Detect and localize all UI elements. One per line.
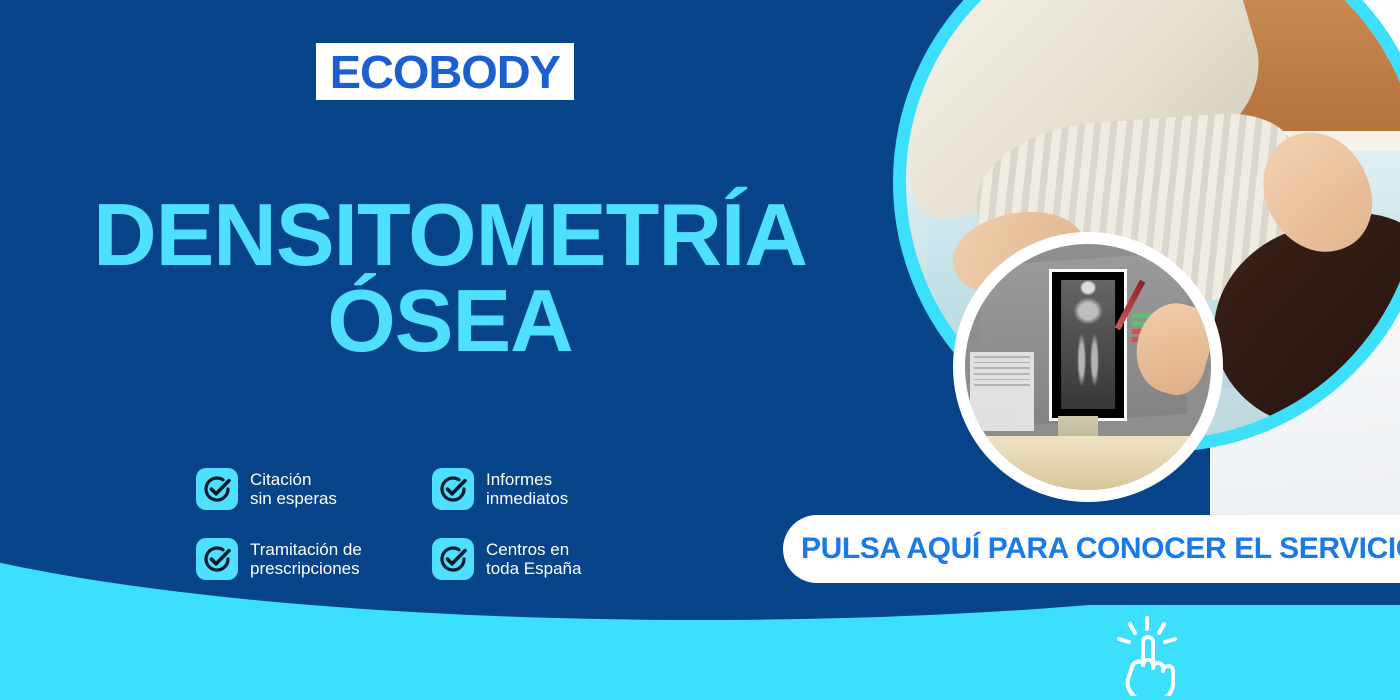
cta-button[interactable]: PULSA AQUÍ PARA CONOCER EL SERVICIO xyxy=(783,515,1400,583)
feature-item-label: Centros en toda España xyxy=(486,540,581,578)
feature-item-label: Informes inmediatos xyxy=(486,470,568,508)
feature-item-label: Tramitación de prescripciones xyxy=(250,540,362,578)
check-circle-icon xyxy=(196,468,238,510)
headline-line-2: ÓSEA xyxy=(0,278,900,364)
brand-logo-text: ECOBODY xyxy=(330,49,560,95)
headline-line-1: DENSITOMETRÍA xyxy=(0,192,900,278)
check-circle-icon xyxy=(432,538,474,580)
feature-item-1: Citación sin esperas xyxy=(196,468,432,510)
feature-item-3: Tramitación de prescripciones xyxy=(196,538,432,580)
promo-banner: Scan Information: Scan Date: Scan Type: … xyxy=(0,0,1400,700)
media-collage: Scan Information: Scan Date: Scan Type: … xyxy=(880,0,1400,600)
feature-item-2: Informes inmediatos xyxy=(432,468,632,510)
monitor-body-scan-photo xyxy=(953,232,1223,502)
feature-item-4: Centros en toda España xyxy=(432,538,632,580)
cta-button-label: PULSA AQUÍ PARA CONOCER EL SERVICIO xyxy=(801,532,1400,566)
feature-item-label: Citación sin esperas xyxy=(250,470,337,508)
brand-logo[interactable]: ECOBODY xyxy=(316,43,574,100)
check-circle-icon xyxy=(196,538,238,580)
check-circle-icon xyxy=(432,468,474,510)
page-title: DENSITOMETRÍA ÓSEA xyxy=(0,192,900,364)
feature-list: Citación sin esperasInformes inmediatosT… xyxy=(196,468,632,580)
tap-hand-icon xyxy=(1105,612,1189,696)
